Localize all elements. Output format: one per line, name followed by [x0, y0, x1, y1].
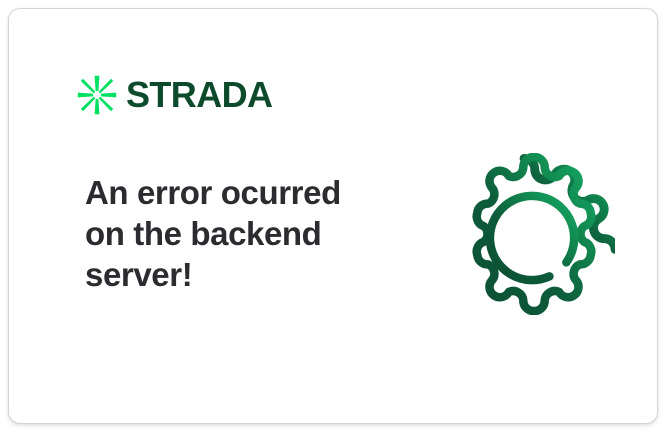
error-message: An error ocurred on the backend server!	[85, 172, 385, 295]
strada-asterisk-icon	[77, 75, 117, 115]
gear-cog-icon	[453, 153, 615, 315]
error-message-line-2: on the backend	[85, 213, 385, 254]
gear-illustration	[453, 153, 615, 315]
error-card: STRADA An error ocurred on the backend s…	[8, 8, 658, 424]
brand-wordmark: STRADA	[126, 77, 272, 113]
error-message-line-3: server!	[85, 254, 385, 295]
error-message-line-1: An error ocurred	[85, 172, 385, 213]
brand-logo: STRADA	[77, 71, 272, 119]
